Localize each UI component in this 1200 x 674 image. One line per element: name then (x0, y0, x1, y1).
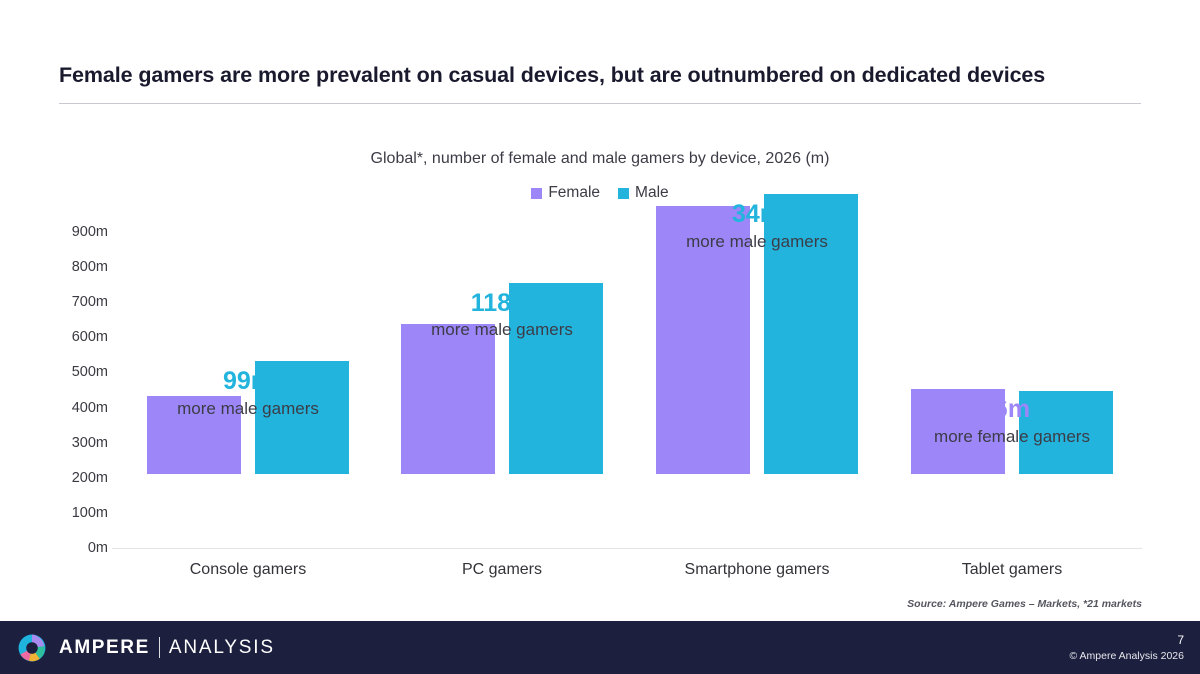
callout-value: 34m (686, 200, 828, 229)
callout-value: 99m (177, 367, 319, 396)
copyright-notice: © Ampere Analysis 2026 (1069, 650, 1184, 662)
callout-annotation: 99mmore male gamers (177, 367, 319, 420)
brand-wordmark: AMPERE ANALYSIS (59, 637, 275, 659)
callout-annotation: 34mmore male gamers (686, 200, 828, 253)
slide: Female gamers are more prevalent on casu… (0, 0, 1200, 674)
y-axis-tick-label: 100m (28, 505, 108, 521)
callout-value: 118m (431, 289, 573, 318)
x-axis-label: Smartphone gamers (685, 561, 830, 579)
x-axis-label: PC gamers (462, 561, 542, 579)
y-axis-tick-label: 600m (28, 329, 108, 345)
callout-value: 6m (934, 395, 1090, 424)
y-axis-tick-label: 400m (28, 400, 108, 416)
callout-annotation: 118mmore male gamers (431, 289, 573, 342)
chart-plot-area: 900m800m700m600m500m400m300m200m100m0m C… (0, 0, 1200, 600)
footer-meta: 7 © Ampere Analysis 2026 (1069, 621, 1184, 674)
brand-divider (159, 637, 160, 658)
y-axis-tick-label: 0m (28, 540, 108, 556)
callout-text: more male gamers (686, 231, 828, 253)
brand-name-primary: AMPERE (59, 637, 150, 659)
page-number: 7 (1177, 633, 1184, 647)
callout-text: more male gamers (177, 398, 319, 420)
y-axis-tick-label: 700m (28, 294, 108, 310)
y-axis-tick-label: 300m (28, 435, 108, 451)
x-axis-label: Tablet gamers (962, 561, 1063, 579)
footer-bar: AMPERE ANALYSIS 7 © Ampere Analysis 2026 (0, 621, 1200, 674)
y-axis-tick-label: 800m (28, 259, 108, 275)
y-axis-tick-label: 500m (28, 364, 108, 380)
ampere-donut-logo-icon (16, 632, 48, 664)
brand-logo[interactable]: AMPERE ANALYSIS (16, 632, 275, 664)
brand-name-secondary: ANALYSIS (169, 637, 275, 659)
source-note: Source: Ampere Games – Markets, *21 mark… (907, 598, 1142, 610)
bar-female[interactable] (401, 324, 495, 474)
y-axis-tick-label: 200m (28, 470, 108, 486)
callout-text: more male gamers (431, 319, 573, 341)
x-axis-baseline (112, 548, 1142, 549)
x-axis-label: Console gamers (190, 561, 307, 579)
callout-text: more female gamers (934, 426, 1090, 448)
callout-annotation: 6mmore female gamers (934, 395, 1090, 448)
y-axis-tick-label: 900m (28, 224, 108, 240)
